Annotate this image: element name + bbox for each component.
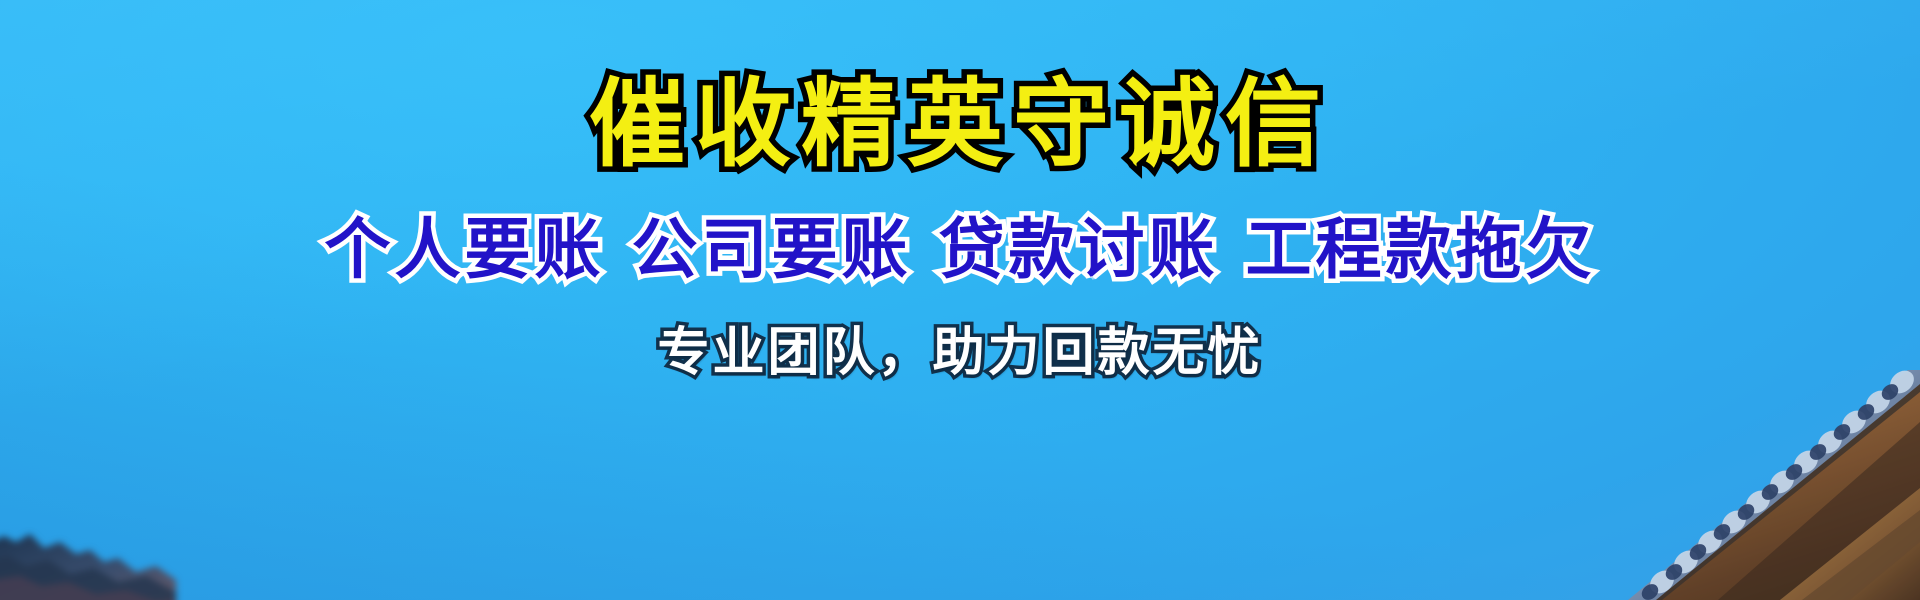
- banner-services-line: 个人要账 公司要账 贷款讨账 工程款拖欠: [325, 215, 1596, 284]
- banner-tagline: 专业团队，助力回款无忧: [657, 326, 1262, 381]
- promotional-banner: 催收精英守诚信 个人要账 公司要账 贷款讨账 工程款拖欠 专业团队，助力回款无忧: [0, 0, 1920, 600]
- banner-text-stack: 催收精英守诚信 个人要账 公司要账 贷款讨账 工程款拖欠 专业团队，助力回款无忧: [0, 0, 1920, 600]
- banner-headline: 催收精英守诚信: [589, 74, 1331, 175]
